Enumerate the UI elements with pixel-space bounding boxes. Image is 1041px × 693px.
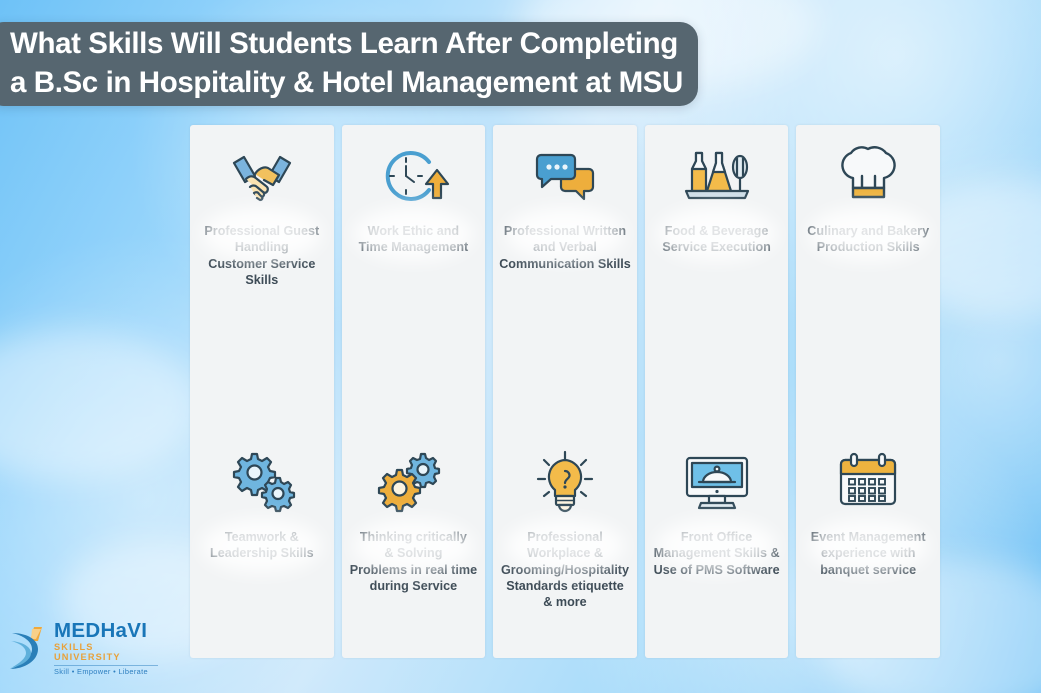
- skill-item[interactable]: Culinary and Bakery Production Skills: [796, 139, 940, 256]
- skill-label: Work Ethic and Time Management: [342, 223, 486, 256]
- gears-blue-icon: [223, 445, 301, 521]
- monitor-cloche-icon: [678, 445, 756, 521]
- skill-item[interactable]: Professional Written and Verbal Communic…: [493, 139, 637, 272]
- cloud-blob: [0, 330, 200, 480]
- skill-card-column-4[interactable]: Food & Beverage Service Execution: [645, 125, 789, 658]
- calendar-icon: [829, 445, 907, 521]
- bottles-tray-icon: [678, 139, 756, 215]
- skill-item[interactable]: Food & Beverage Service Execution: [645, 139, 789, 256]
- skill-item[interactable]: Professional Workplace & Grooming/Hospit…: [493, 445, 637, 611]
- logo-subtitle: SKILLS UNIVERSITY: [54, 643, 158, 661]
- title-banner: What Skills Will Students Learn After Co…: [0, 22, 698, 106]
- medhavi-wave-mark: [8, 623, 48, 673]
- gears-orange-blue-icon: [374, 445, 452, 521]
- skill-item[interactable]: Work Ethic and Time Management: [342, 139, 486, 256]
- logo-tagline: Skill • Empower • Liberate: [54, 665, 158, 675]
- clock-arrow-icon: [374, 139, 452, 215]
- lightbulb-icon: [526, 445, 604, 521]
- skill-label: Professional Workplace & Grooming/Hospit…: [493, 529, 637, 611]
- logo-name: MEDHaVI: [54, 621, 158, 642]
- skill-card-column-3[interactable]: Professional Written and Verbal Communic…: [493, 125, 637, 658]
- skill-card-column-1[interactable]: Professional Guest Handling Customer Ser…: [190, 125, 334, 658]
- skill-label: Thinking critically & Solving Problems i…: [342, 529, 486, 594]
- skill-label: Food & Beverage Service Execution: [645, 223, 789, 256]
- speech-bubbles-icon: [526, 139, 604, 215]
- chef-hat-icon: [829, 139, 907, 215]
- university-logo[interactable]: MEDHaVI SKILLS UNIVERSITY Skill • Empowe…: [8, 620, 158, 676]
- infographic-poster: What Skills Will Students Learn After Co…: [0, 0, 1041, 693]
- handshake-icon: [223, 139, 301, 215]
- skill-label: Event Management experience with banquet…: [796, 529, 940, 578]
- skill-item[interactable]: Teamwork & Leadership Skills: [190, 445, 334, 562]
- skill-card-column-2[interactable]: Work Ethic and Time Management Thinking …: [342, 125, 486, 658]
- page-title: What Skills Will Students Learn After Co…: [10, 25, 683, 103]
- skill-label: Professional Written and Verbal Communic…: [493, 223, 637, 272]
- skill-item[interactable]: Thinking critically & Solving Problems i…: [342, 445, 486, 594]
- skill-label: Front Office Management Skills & Use of …: [645, 529, 789, 578]
- logo-wordmark: MEDHaVI SKILLS UNIVERSITY Skill • Empowe…: [54, 621, 158, 675]
- skills-card-grid: Professional Guest Handling Customer Ser…: [190, 125, 940, 658]
- skill-label: Professional Guest Handling Customer Ser…: [190, 223, 334, 288]
- skill-card-column-5[interactable]: Culinary and Bakery Production Skills: [796, 125, 940, 658]
- skill-label: Teamwork & Leadership Skills: [190, 529, 334, 562]
- skill-item[interactable]: Front Office Management Skills & Use of …: [645, 445, 789, 578]
- skill-item[interactable]: Professional Guest Handling Customer Ser…: [190, 139, 334, 288]
- skill-label: Culinary and Bakery Production Skills: [796, 223, 940, 256]
- skill-item[interactable]: Event Management experience with banquet…: [796, 445, 940, 578]
